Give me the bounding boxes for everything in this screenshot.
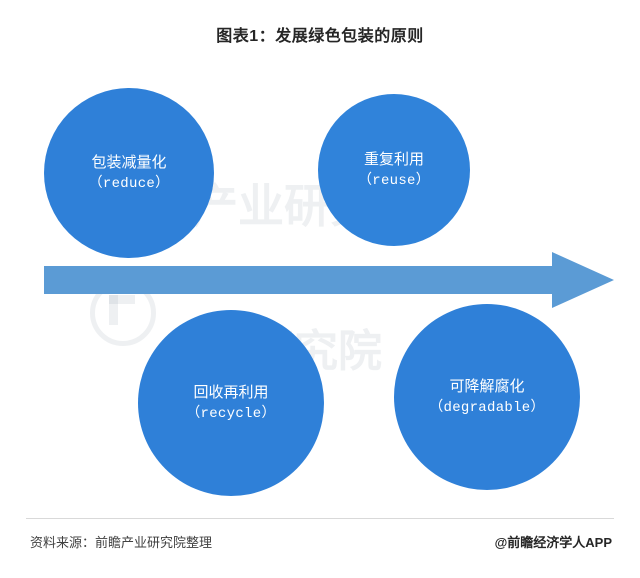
principle-node-reuse-en: （reuse） (358, 171, 430, 191)
principle-node-recycle[interactable]: 回收再利用 （recycle） (138, 310, 324, 496)
principle-node-recycle-en: （recycle） (186, 404, 276, 424)
page-title: 图表1：发展绿色包装的原则 (0, 22, 640, 46)
principle-node-reduce[interactable]: 包装减量化 （reduce） (44, 88, 214, 258)
principle-node-degradable[interactable]: 可降解腐化 （degradable） (394, 304, 580, 490)
principle-node-reuse-cn: 重复利用 (364, 149, 424, 171)
principle-node-reuse[interactable]: 重复利用 （reuse） (318, 94, 470, 246)
principle-node-degradable-cn: 可降解腐化 (449, 376, 524, 398)
source-text: 资料来源：前瞻产业研究院整理 (30, 532, 212, 551)
principle-node-reduce-en: （reduce） (89, 174, 170, 194)
principle-node-degradable-en: （degradable） (429, 398, 545, 418)
brand-text: @前瞻经济学人APP (495, 532, 612, 551)
right-arrow-icon (44, 252, 614, 308)
diagram-page: 图表1：发展绿色包装的原则 前瞻产业研究院 研究院 包装减量化 （reduce）… (0, 0, 640, 578)
footer-divider (26, 518, 614, 519)
principle-node-reduce-cn: 包装减量化 (91, 152, 166, 174)
principle-node-recycle-cn: 回收再利用 (193, 382, 268, 404)
